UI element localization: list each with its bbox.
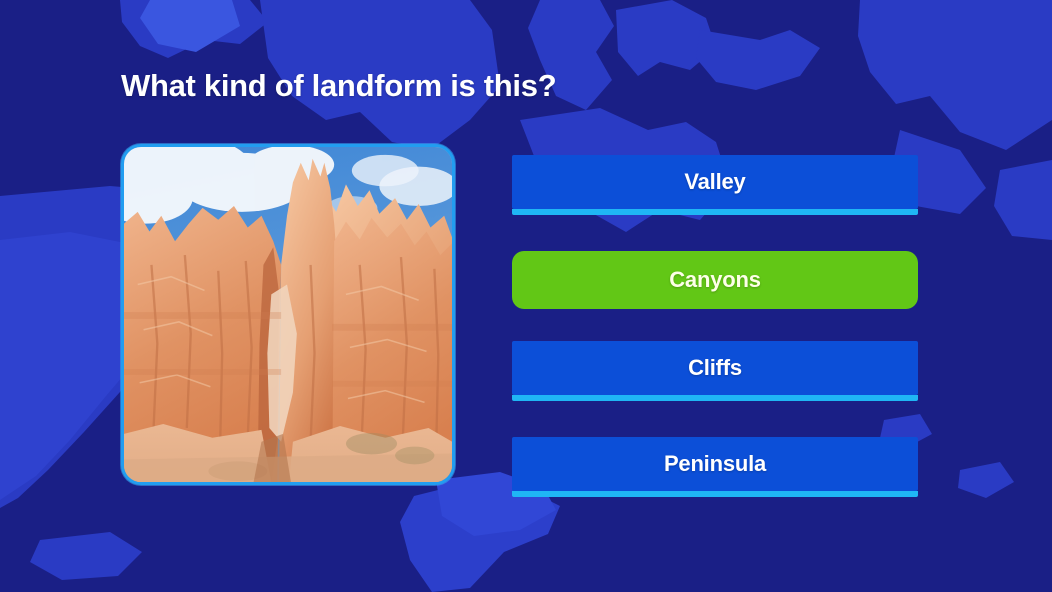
answer-label: Peninsula (664, 451, 766, 477)
answer-underline (512, 395, 918, 401)
answer-face[interactable]: Valley (512, 155, 918, 209)
answer-label: Cliffs (688, 355, 742, 381)
answer-face[interactable]: Cliffs (512, 341, 918, 395)
answer-label: Valley (684, 169, 745, 195)
page-title: What kind of landform is this? (121, 68, 556, 104)
quiz-screen: What kind of landform is this? (0, 0, 1052, 592)
answer-options-list: Valley Canyons Cliffs Peninsula (512, 155, 918, 497)
answer-label: Canyons (669, 267, 761, 293)
answer-face[interactable]: Canyons (512, 251, 918, 309)
answer-underline (512, 209, 918, 215)
canyon-photo (124, 147, 452, 482)
answer-option-canyons[interactable]: Canyons (512, 251, 918, 309)
question-image-card (121, 144, 455, 485)
answer-underline (512, 491, 918, 497)
answer-option-valley[interactable]: Valley (512, 155, 918, 215)
answer-option-peninsula[interactable]: Peninsula (512, 437, 918, 497)
answer-face[interactable]: Peninsula (512, 437, 918, 491)
answer-option-cliffs[interactable]: Cliffs (512, 341, 918, 401)
